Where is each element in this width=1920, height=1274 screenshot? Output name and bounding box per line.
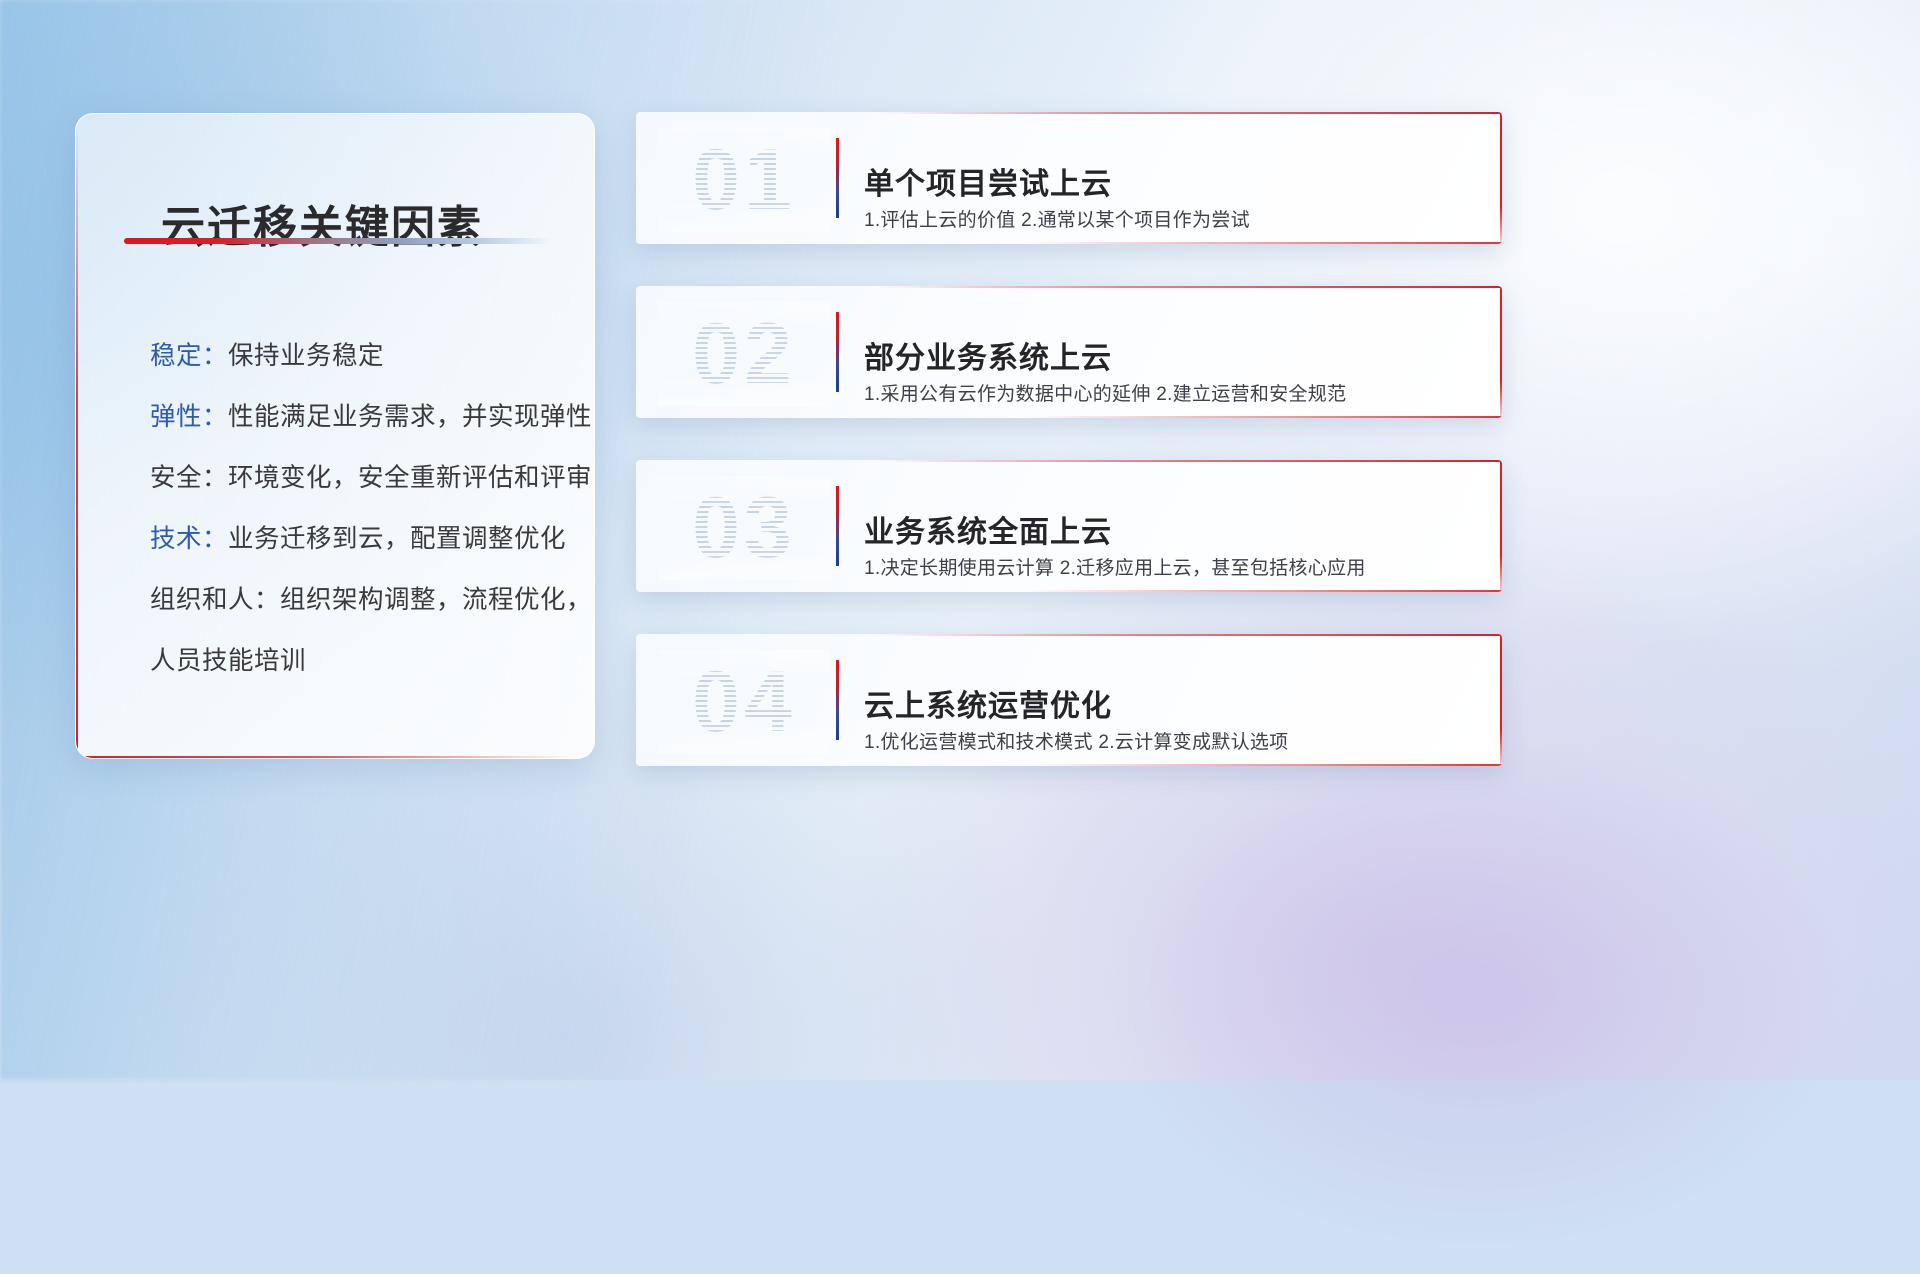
card-title: 单个项目尝试上云: [864, 159, 1112, 203]
key-factor-text: 组织架构调整，流程优化，: [280, 586, 592, 614]
card-bottom-accent: [1026, 416, 1502, 418]
card-title: 部分业务系统上云: [864, 333, 1112, 377]
key-factor-item: 安全：环境变化，安全重新评估和评审: [150, 448, 572, 509]
key-factor-text: 业务迁移到云，配置调整优化: [228, 525, 566, 553]
key-factor-item: 稳定：保持业务稳定: [150, 326, 572, 387]
key-factors-panel: 云迁移关键因素 稳定：保持业务稳定弹性：性能满足业务需求，并实现弹性安全：环境变…: [75, 113, 595, 759]
card-description: 1.决定长期使用云计算 2.迁移应用上云，甚至包括核心应用: [864, 553, 1366, 580]
stage-number: 01: [658, 128, 830, 232]
card-bottom-accent: [1026, 764, 1502, 766]
key-factor-label: 弹性：: [150, 403, 228, 431]
key-factor-text: 性能满足业务需求，并实现弹性: [228, 403, 592, 431]
key-factor-label: 技术：: [150, 525, 228, 553]
key-factor-text: 保持业务稳定: [228, 342, 384, 370]
stage-card[interactable]: 01单个项目尝试上云1.评估上云的价值 2.通常以某个项目作为尝试: [636, 112, 1502, 244]
stage-number: 04: [658, 650, 830, 754]
key-factor-item: 弹性：性能满足业务需求，并实现弹性: [150, 387, 572, 448]
card-divider-bar: [836, 660, 839, 740]
key-factor-label: 安全：: [150, 464, 228, 492]
stage-number: 02: [658, 302, 830, 406]
card-divider-bar: [836, 486, 839, 566]
migration-stage-cards: 01单个项目尝试上云1.评估上云的价值 2.通常以某个项目作为尝试02部分业务系…: [636, 112, 1502, 808]
card-description: 1.优化运营模式和技术模式 2.云计算变成默认选项: [864, 727, 1288, 754]
card-bottom-accent: [1026, 590, 1502, 592]
card-divider-bar: [836, 138, 839, 218]
card-title: 云上系统运营优化: [864, 681, 1112, 725]
key-factor-label: 组织和人：: [150, 586, 280, 614]
panel-title: 云迁移关键因素: [161, 191, 483, 255]
card-top-accent: [878, 460, 1502, 462]
key-factor-text: 人员技能培训: [150, 647, 306, 675]
card-title: 业务系统全面上云: [864, 507, 1112, 551]
card-top-accent: [878, 112, 1502, 114]
card-right-accent: [1500, 634, 1502, 766]
key-factor-item: 人员技能培训: [150, 631, 572, 692]
card-right-accent: [1500, 286, 1502, 418]
stage-card[interactable]: 03业务系统全面上云1.决定长期使用云计算 2.迁移应用上云，甚至包括核心应用: [636, 460, 1502, 592]
card-top-accent: [878, 634, 1502, 636]
key-factor-item: 技术：业务迁移到云，配置调整优化: [150, 509, 572, 570]
key-factors-list: 稳定：保持业务稳定弹性：性能满足业务需求，并实现弹性安全：环境变化，安全重新评估…: [110, 326, 572, 692]
key-factor-text: 环境变化，安全重新评估和评审: [228, 464, 592, 492]
card-description: 1.评估上云的价值 2.通常以某个项目作为尝试: [864, 205, 1250, 232]
key-factor-item: 组织和人：组织架构调整，流程优化，: [150, 570, 572, 631]
card-right-accent: [1500, 460, 1502, 592]
key-factor-label: 稳定：: [150, 342, 228, 370]
card-right-accent: [1500, 112, 1502, 244]
title-underline-gradient: [124, 238, 552, 244]
stage-card[interactable]: 04云上系统运营优化1.优化运营模式和技术模式 2.云计算变成默认选项: [636, 634, 1502, 766]
card-divider-bar: [836, 312, 839, 392]
stage-number: 03: [658, 476, 830, 580]
card-description: 1.采用公有云作为数据中心的延伸 2.建立运营和安全规范: [864, 379, 1346, 406]
card-top-accent: [878, 286, 1502, 288]
card-bottom-accent: [1026, 242, 1502, 244]
stage-card[interactable]: 02部分业务系统上云1.采用公有云作为数据中心的延伸 2.建立运营和安全规范: [636, 286, 1502, 418]
